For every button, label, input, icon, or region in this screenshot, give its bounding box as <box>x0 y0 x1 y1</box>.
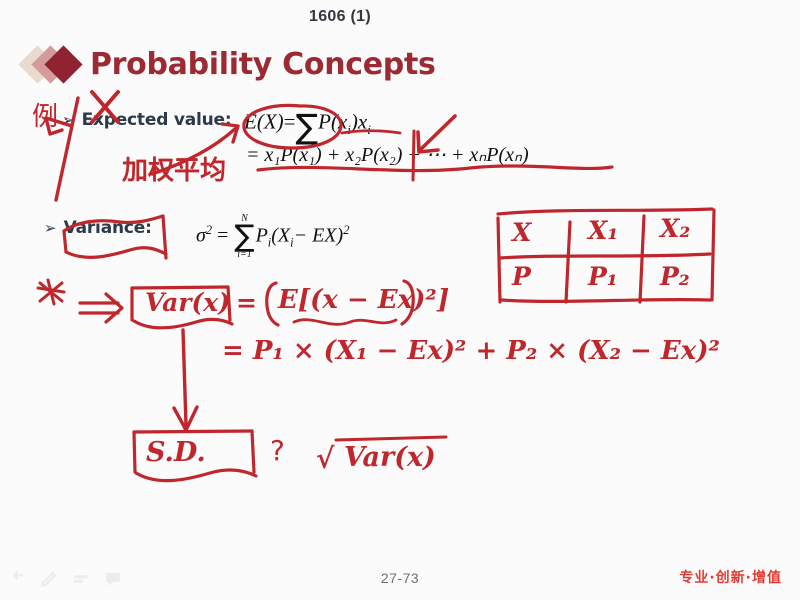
ink-sqrt-glyph: √ <box>316 442 334 475</box>
formula-ev-prob: P(x <box>318 110 347 134</box>
eraser-icon[interactable] <box>72 570 90 588</box>
ink-star-mark <box>38 280 64 304</box>
formula-var-sum-icon: N ∑ i=1 <box>234 214 254 260</box>
pointer-bubble-icon[interactable] <box>104 570 122 588</box>
slide-canvas: 1606 (1) Probability Concepts ➢ Expected… <box>0 0 800 600</box>
ink-table-cell-r1c2: P₂ <box>660 262 690 291</box>
formula-var-sigma-sup: 2 <box>206 223 212 237</box>
formula-var-sum-glyph: ∑ <box>234 224 254 250</box>
formula-var-p: P <box>256 224 268 246</box>
pen-icon[interactable] <box>40 570 58 588</box>
ink-example-char: 例 <box>32 96 58 133</box>
ink-question-mark: ? <box>270 434 285 467</box>
ink-weighted-average: 加权平均 <box>122 150 226 187</box>
bullet-variance-label: Variance: <box>64 218 152 238</box>
formula-variance: σ2 = N ∑ i=1 Pi(Xi− EX)2 <box>196 214 349 260</box>
brand-slogan: 专业·创新·增值 <box>679 567 782 587</box>
page-title: Probability Concepts <box>90 47 436 82</box>
formula-expected-value-line1: E(X)=∑P(xi)xi <box>244 107 371 146</box>
ink-sd-label: S.D. <box>146 437 206 468</box>
formula-var-tail: − EX) <box>294 224 344 246</box>
ink-variance-expansion: = P₁ × (X₁ − Ex)² + P₂ × (X₂ − Ex)² <box>222 336 720 366</box>
ink-sqrt-var-label: Var(x) <box>344 442 436 473</box>
ink-example-dot: . <box>63 105 68 125</box>
ink-table-cell-r1c1: P₁ <box>588 262 618 291</box>
ink-underline-expectation <box>294 320 396 325</box>
ink-table-cell-r0c1: X₁ <box>588 216 618 245</box>
formula-ev-lhs: E(X) <box>244 110 284 134</box>
ink-table-cell-r0c0: X <box>512 218 531 247</box>
ink-implies-arrow <box>80 294 122 322</box>
bullet-marker-icon-2: ➢ <box>44 219 57 237</box>
formula-var-equals: = <box>217 224 228 246</box>
ink-table-cell-r1c0: P <box>512 262 531 291</box>
ink-expectation-form: E[(x − Ex)²] <box>278 285 449 315</box>
formula-var-sum-lower: i=1 <box>237 250 252 260</box>
page-code: 1606 (1) <box>0 8 800 26</box>
bullet-expected-value: ➢ Expected value: <box>62 110 232 130</box>
undo-arrow-icon[interactable] <box>8 570 26 588</box>
formula-ev-prob-tail: )x <box>351 110 367 134</box>
ink-table-cell-r0c2: X₂ <box>660 214 690 243</box>
bullet-expected-value-label: Expected value: <box>82 110 232 130</box>
ink-arrow-down-to-sd <box>174 330 197 430</box>
bullet-variance: ➢ Variance: <box>44 218 152 238</box>
formula-var-sigma: σ <box>196 224 206 246</box>
ink-var-of-x: Var(x) <box>145 288 230 317</box>
formula-expected-value-line2: = x₁P(x₁) + x₂P(x₂) + ⋯ + xₙP(xₙ) <box>246 142 529 167</box>
formula-var-open: (X <box>271 224 290 246</box>
formula-ev-sum-icon: ∑ <box>296 107 319 146</box>
slide-title-block: Probability Concepts <box>24 44 436 84</box>
annotation-toolbar[interactable] <box>8 570 122 588</box>
ink-var-equals: = <box>236 288 257 317</box>
formula-ev-tail-sub: i <box>367 122 371 137</box>
ink-sqrt-bar <box>336 437 446 440</box>
diamond-decoration-icon <box>24 44 82 84</box>
formula-ev-equals: = <box>284 110 296 134</box>
formula-var-sup: 2 <box>343 223 349 237</box>
